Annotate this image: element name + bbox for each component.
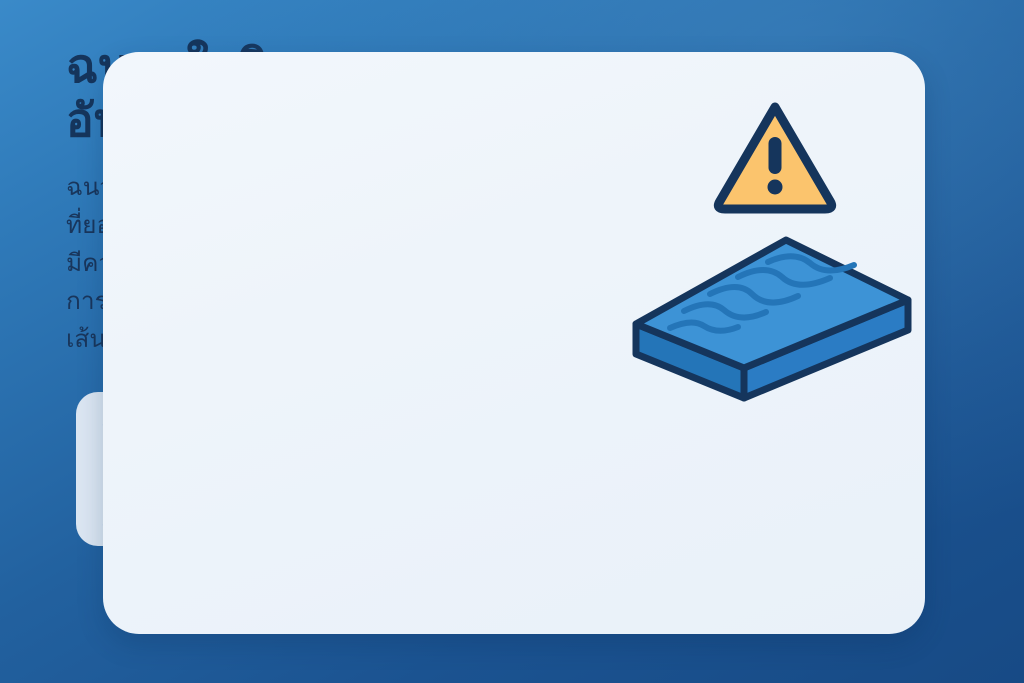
infographic-poster: ฉนวนใยหิน อันตราย จริงหรือไม่? ฉนวนใยหิน… (0, 0, 1024, 683)
warning-triangle-icon (712, 97, 838, 215)
rock-wool-slab-illustration (626, 232, 918, 402)
